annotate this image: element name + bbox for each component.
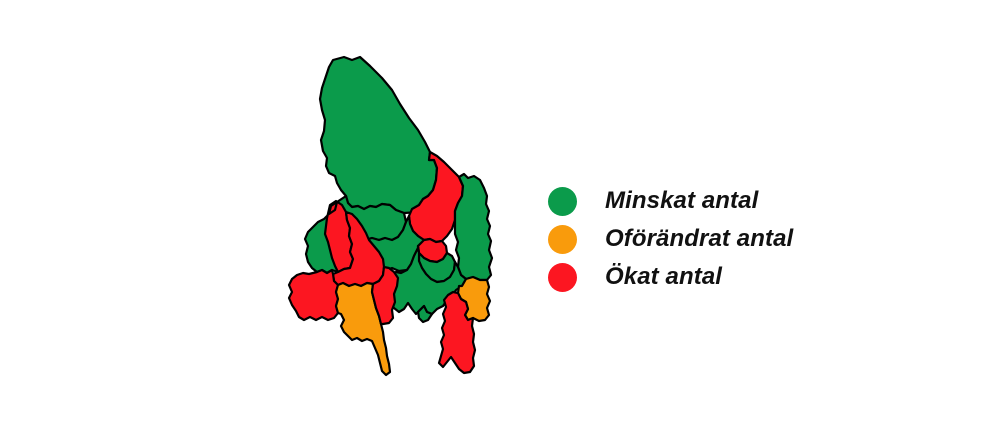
legend: Minskat antal Oförändrat antal Ökat anta… xyxy=(548,182,878,296)
legend-swatch-red-icon xyxy=(548,263,577,292)
figure-canvas: Minskat antal Oförändrat antal Ökat anta… xyxy=(0,0,1000,438)
legend-item-increase[interactable]: Ökat antal xyxy=(548,258,878,296)
map-region-far-west-red[interactable] xyxy=(289,270,338,320)
legend-swatch-green-icon xyxy=(548,187,577,216)
legend-label-decrease: Minskat antal xyxy=(605,187,758,215)
legend-label-unchanged: Oförändrat antal xyxy=(605,225,793,253)
map-region-north-spine[interactable] xyxy=(320,57,437,213)
legend-label-increase: Ökat antal xyxy=(605,263,722,291)
legend-item-unchanged[interactable]: Oförändrat antal xyxy=(548,220,878,258)
legend-item-decrease[interactable]: Minskat antal xyxy=(548,182,878,220)
legend-swatch-orange-icon xyxy=(548,225,577,254)
